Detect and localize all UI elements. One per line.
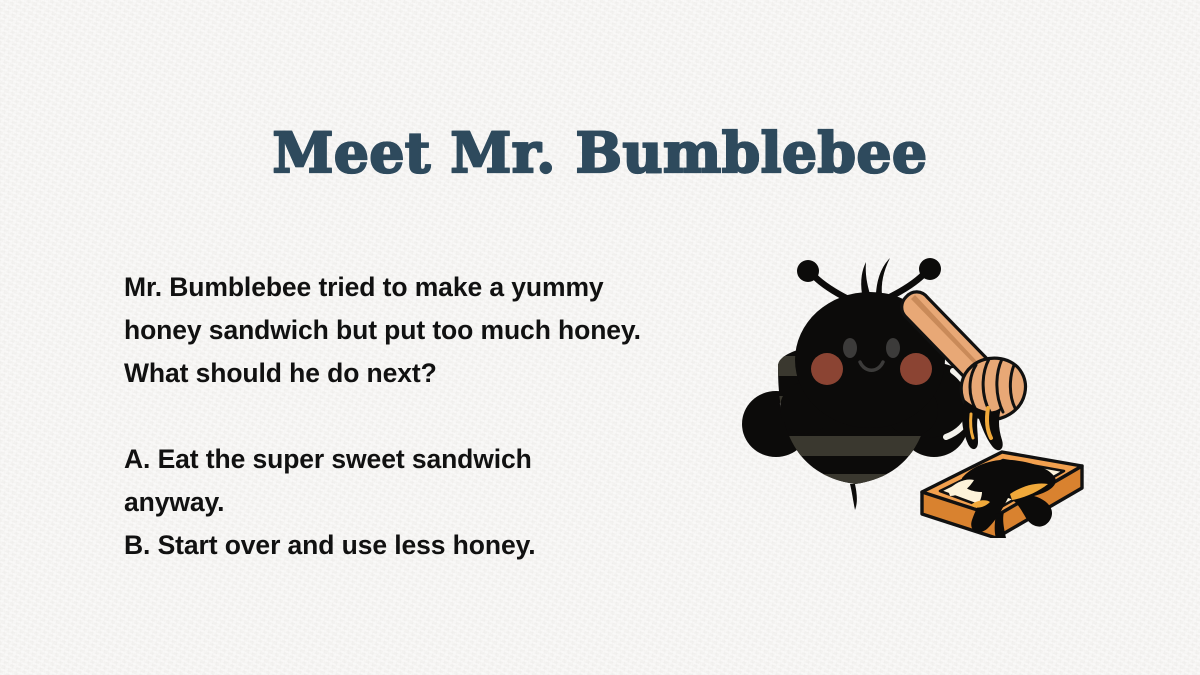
abdomen-stripe-4: [765, 474, 950, 490]
slide-canvas: Meet Mr. Bumblebee Mr. Bumblebee tried t…: [0, 0, 1200, 675]
eye-right: [886, 338, 900, 358]
answer-option-b[interactable]: B. Start over and use less honey.: [124, 524, 624, 567]
question-text: Mr. Bumblebee tried to make a yummy hone…: [124, 266, 644, 395]
toast-group: [922, 452, 1082, 538]
eye-left: [843, 338, 857, 358]
answer-options: A. Eat the super sweet sandwich anyway. …: [124, 438, 624, 567]
head-tuft-right: [876, 258, 890, 295]
answer-option-a[interactable]: A. Eat the super sweet sandwich anyway.: [124, 438, 624, 524]
bumblebee-illustration: [710, 238, 1100, 538]
cheek-left: [811, 353, 843, 385]
bee-stinger: [850, 484, 857, 510]
antenna-right-tip: [919, 258, 941, 280]
page-title: Meet Mr. Bumblebee: [0, 125, 1200, 180]
head-tuft-left: [861, 262, 870, 294]
cheek-right: [900, 353, 932, 385]
antenna-left-tip: [797, 260, 819, 282]
slide-body-copy: Mr. Bumblebee tried to make a yummy hone…: [124, 266, 664, 567]
